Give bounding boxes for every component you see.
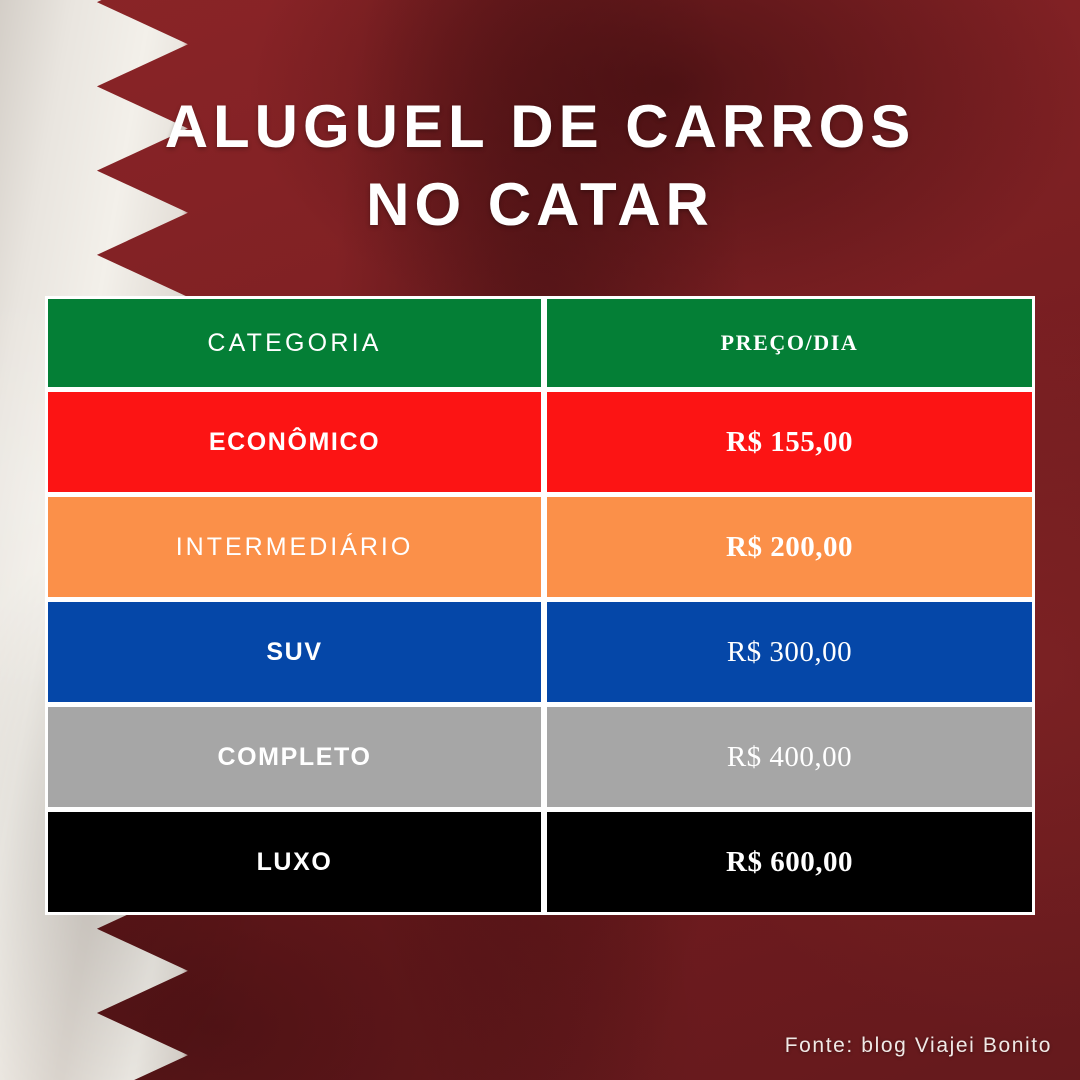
label-price-economico: R$ 155,00 bbox=[726, 426, 853, 459]
cell-category-luxo: LUXO bbox=[48, 812, 541, 912]
label-category-economico: ECONÔMICO bbox=[209, 428, 380, 457]
poster-title: ALUGUEL DE CARROS NO CATAR bbox=[0, 88, 1080, 244]
label-category-suv: SUV bbox=[266, 638, 322, 667]
cell-category-completo: COMPLETO bbox=[48, 707, 541, 807]
label-price-intermediario: R$ 200,00 bbox=[726, 531, 853, 564]
label-price-luxo: R$ 600,00 bbox=[726, 846, 853, 879]
label-price-suv: R$ 300,00 bbox=[727, 636, 852, 669]
label-category-intermediario: INTERMEDIÁRIO bbox=[176, 533, 414, 562]
table-header-row: CATEGORIA PREÇO/DIA bbox=[48, 299, 1032, 387]
table-row: ECONÔMICO R$ 155,00 bbox=[48, 392, 1032, 492]
header-cell-price: PREÇO/DIA bbox=[547, 299, 1032, 387]
infographic-poster: ALUGUEL DE CARROS NO CATAR CATEGORIA PRE… bbox=[0, 0, 1080, 1080]
cell-category-economico: ECONÔMICO bbox=[48, 392, 541, 492]
source-credit: Fonte: blog Viajei Bonito bbox=[785, 1034, 1052, 1058]
cell-category-suv: SUV bbox=[48, 602, 541, 702]
table-row: COMPLETO R$ 400,00 bbox=[48, 707, 1032, 807]
table-row: LUXO R$ 600,00 bbox=[48, 812, 1032, 912]
table-row: SUV R$ 300,00 bbox=[48, 602, 1032, 702]
cell-price-economico: R$ 155,00 bbox=[547, 392, 1032, 492]
header-label-price: PREÇO/DIA bbox=[721, 330, 859, 356]
label-category-completo: COMPLETO bbox=[217, 743, 371, 772]
table-row: INTERMEDIÁRIO R$ 200,00 bbox=[48, 497, 1032, 597]
label-price-completo: R$ 400,00 bbox=[727, 741, 852, 774]
title-line-1: ALUGUEL DE CARROS bbox=[0, 88, 1080, 166]
cell-price-luxo: R$ 600,00 bbox=[547, 812, 1032, 912]
cell-category-intermediario: INTERMEDIÁRIO bbox=[48, 497, 541, 597]
header-label-category: CATEGORIA bbox=[207, 329, 381, 358]
cell-price-completo: R$ 400,00 bbox=[547, 707, 1032, 807]
cell-price-suv: R$ 300,00 bbox=[547, 602, 1032, 702]
title-line-2: NO CATAR bbox=[0, 166, 1080, 244]
label-category-luxo: LUXO bbox=[257, 848, 333, 877]
price-table: CATEGORIA PREÇO/DIA ECONÔMICO R$ 155,00 … bbox=[45, 296, 1035, 915]
cell-price-intermediario: R$ 200,00 bbox=[547, 497, 1032, 597]
header-cell-category: CATEGORIA bbox=[48, 299, 541, 387]
